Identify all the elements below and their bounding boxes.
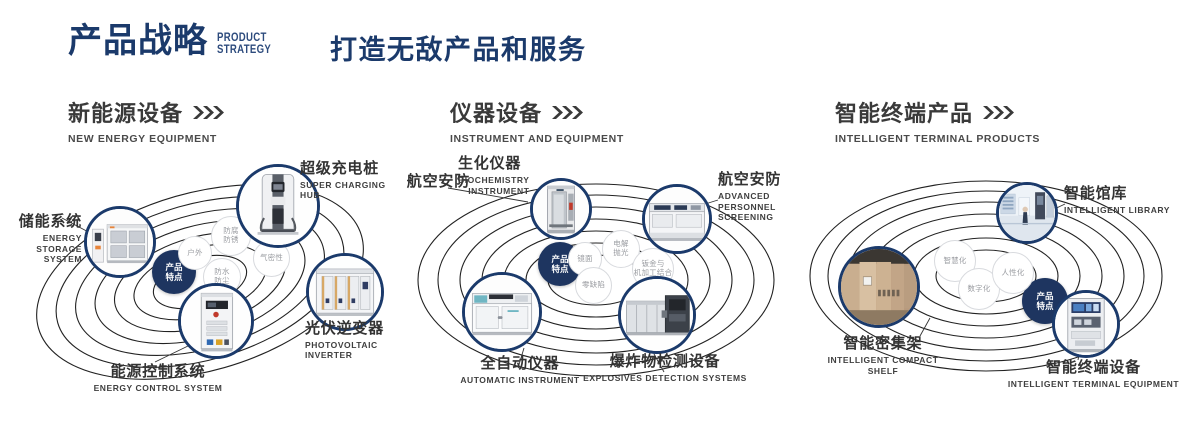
- node-automatic-instrument[interactable]: [462, 272, 542, 352]
- label-energy-storage: 储能系统 ENERGY STORAGE SYSTEM: [0, 210, 82, 265]
- photo-self-service-kiosk: [1055, 293, 1117, 355]
- photo-explosives-detector: [621, 279, 693, 351]
- node-biochemistry-instrument[interactable]: [530, 178, 592, 240]
- chevron-right-icon: [193, 106, 227, 119]
- photo-automatic-instrument: [465, 275, 539, 349]
- label-photovoltaic-inverter: 光伏逆变器 PHOTOVOLTAIC INVERTER: [305, 317, 400, 360]
- node-intelligent-compact-shelf[interactable]: [838, 246, 920, 328]
- photo-compact-shelf: [841, 249, 917, 325]
- cluster-instrument: 产品 特点 镜面 电解 抛光 钣金与 机加工结合 零缺陷: [400, 150, 800, 410]
- label-intelligent-compact-shelf: 智能密集架 INTELLIGENT COMPACT SHELF: [818, 332, 948, 376]
- feature-bubble: 零缺陷: [575, 267, 612, 304]
- badge-label: 产品 特点: [165, 262, 182, 282]
- label-advanced-personnel-screening: 航空安防 ADVANCED PERSONNEL SCREENING: [718, 168, 800, 223]
- node-advanced-personnel-screening[interactable]: [642, 184, 712, 254]
- feature-bubble: 人性化: [992, 252, 1034, 294]
- node-explosives-detection[interactable]: [618, 276, 696, 354]
- photo-biochemistry-scanner: [533, 181, 589, 237]
- label-biochemistry-instrument: 生化仪器 BIOCHEMISTRY INSTRUMENT: [458, 152, 529, 196]
- section-title-en: INSTRUMENT AND EQUIPMENT: [450, 133, 624, 145]
- chevron-right-icon: [983, 106, 1017, 119]
- section-heading-instrument: 仪器设备 INSTRUMENT AND EQUIPMENT: [450, 96, 624, 145]
- label-automatic-instrument: 全自动仪器 AUTOMATIC INSTRUMENT: [430, 352, 610, 385]
- section-title-en: NEW ENERGY EQUIPMENT: [68, 133, 227, 145]
- section-title-en: INTELLIGENT TERMINAL PRODUCTS: [835, 133, 1040, 145]
- label-super-charging-hub: 超级充电桩 SUPER CHARGING HUB: [300, 157, 400, 200]
- label-energy-control-system: 能源控制系统 ENERGY CONTROL SYSTEM: [78, 360, 238, 393]
- section-heading-new-energy: 新能源设备 NEW ENERGY EQUIPMENT: [68, 96, 227, 145]
- page-title-cn: 产品战略: [68, 24, 208, 58]
- photo-library-interior: [999, 185, 1055, 241]
- cluster-new-energy: 产品 特点 户外 防腐 防锈 防水 防尘 气密性: [0, 150, 400, 410]
- badge-label: 产品 特点: [1036, 291, 1053, 311]
- section-title-cn: 新能源设备: [68, 96, 183, 128]
- page-header: 产品战略 PRODUCT STRATEGY: [68, 24, 285, 58]
- node-energy-control-system[interactable]: [178, 283, 254, 359]
- node-intelligent-library[interactable]: [996, 182, 1058, 244]
- photo-energy-storage-cabinet: [87, 209, 153, 275]
- section-title-cn: 智能终端产品: [835, 96, 973, 128]
- node-energy-storage[interactable]: [84, 206, 156, 278]
- chevron-right-icon: [552, 106, 586, 119]
- badge-label: 产品 特点: [551, 254, 568, 274]
- page-subtitle: 打造无敌产品和服务: [330, 28, 587, 67]
- section-title-cn: 仪器设备: [450, 96, 542, 128]
- cluster-intelligent-terminal: 产品 特点 智慧化 数字化 人性化: [800, 150, 1200, 410]
- product-strategy-infographic: 产品战略 PRODUCT STRATEGY 打造无敌产品和服务 新能源设备 NE…: [0, 0, 1200, 422]
- label-intelligent-library: 智能馆库 INTELLIGENT LIBRARY: [1064, 182, 1170, 215]
- label-intelligent-terminal-equipment: 智能终端设备 INTELLIGENT TERMINAL EQUIPMENT: [1006, 356, 1181, 389]
- photo-energy-control-cabinet: [181, 286, 251, 356]
- node-intelligent-terminal-equipment[interactable]: [1052, 290, 1120, 358]
- photo-screening-machine: [645, 187, 709, 251]
- page-title-en: PRODUCT STRATEGY: [217, 31, 271, 56]
- section-heading-intelligent: 智能终端产品 INTELLIGENT TERMINAL PRODUCTS: [835, 96, 1040, 145]
